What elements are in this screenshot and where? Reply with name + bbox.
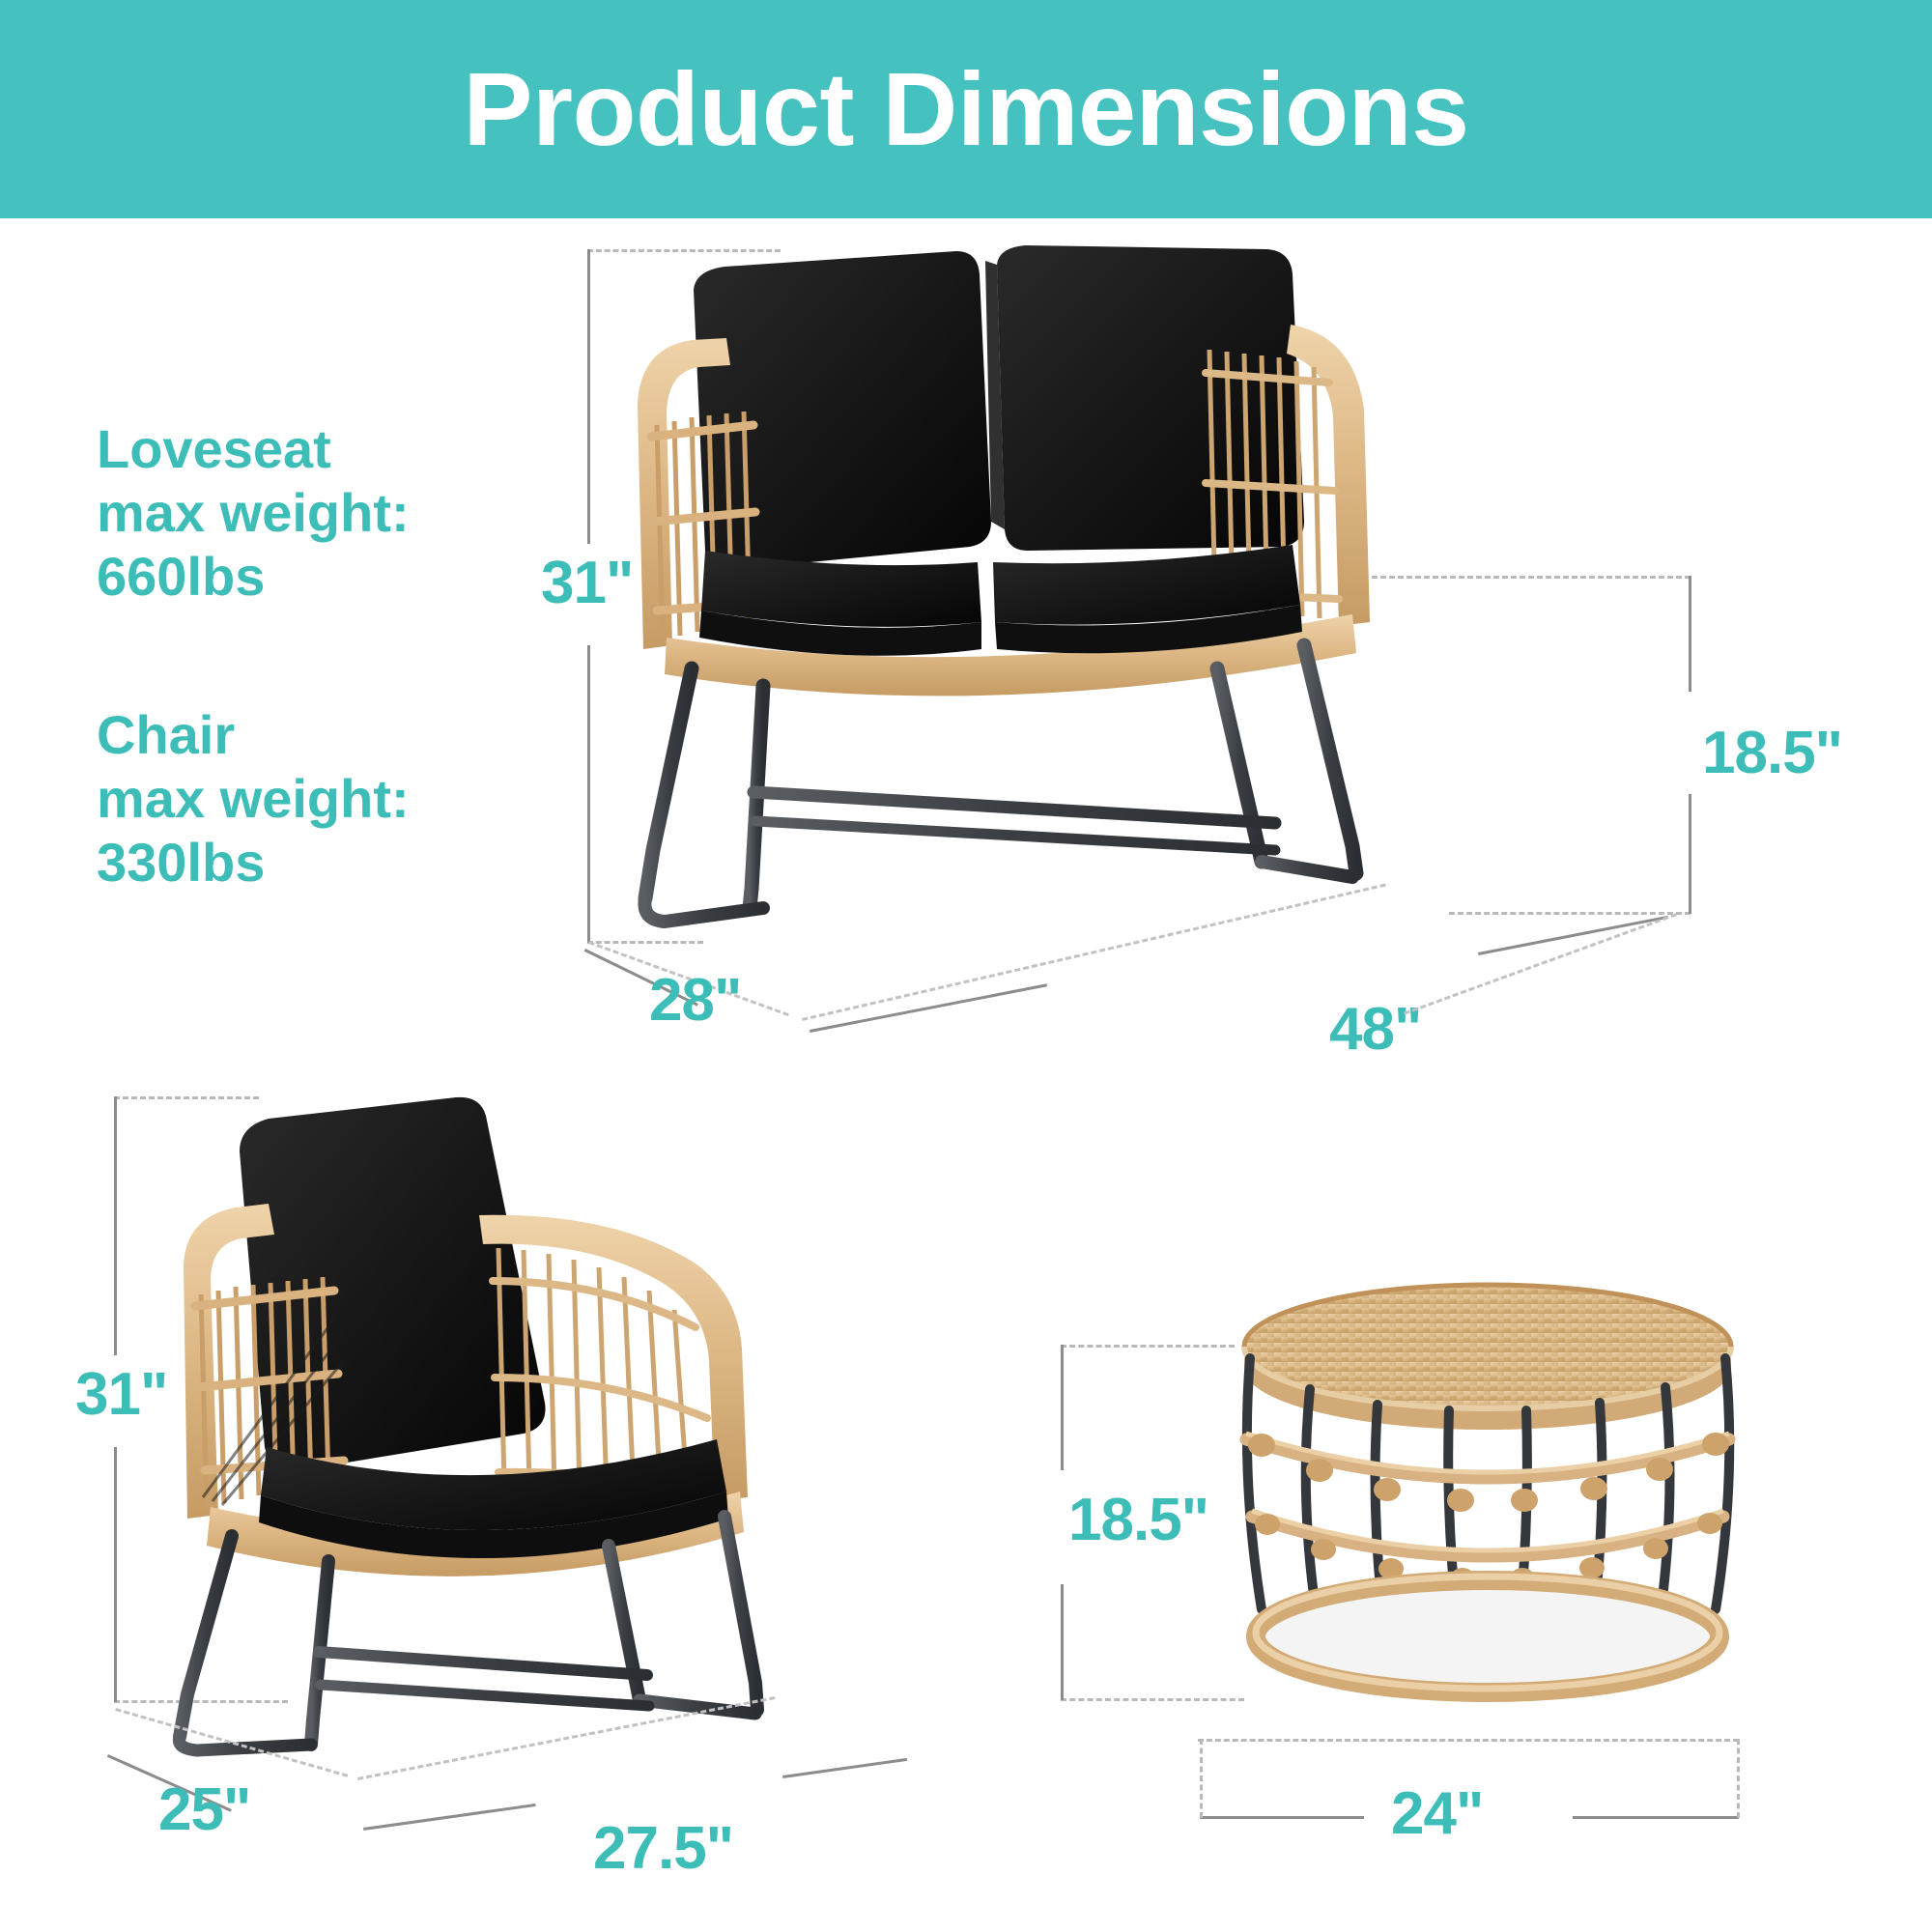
table-diameter-right-tick bbox=[1737, 1739, 1740, 1818]
table-diameter-line-right bbox=[1573, 1816, 1739, 1819]
table-top bbox=[1244, 1285, 1731, 1430]
loveseat-max-weight-note: Loveseat max weight: 660lbs bbox=[97, 417, 410, 609]
table-diameter-label: 24" bbox=[1391, 1779, 1483, 1848]
loveseat-seat-height-bottom-leader bbox=[1449, 912, 1690, 915]
chair-width-label: 27.5" bbox=[593, 1814, 733, 1883]
table-base-ring bbox=[1256, 1577, 1719, 1692]
loveseat-footprint-right-edge bbox=[1404, 913, 1677, 1014]
chair-image bbox=[155, 1092, 773, 1748]
loveseat-seat-cushions bbox=[699, 545, 1302, 656]
loveseat-height-line-upper bbox=[587, 249, 590, 544]
loveseat-depth-label: 28" bbox=[649, 966, 741, 1035]
header-banner: Product Dimensions bbox=[0, 0, 1932, 218]
table-height-line-upper bbox=[1061, 1345, 1064, 1470]
infographic-page: Product Dimensions Loveseat max weight: … bbox=[0, 0, 1932, 1932]
loveseat-seat-height-top-leader bbox=[1372, 576, 1690, 579]
loveseat-width-label: 48" bbox=[1329, 995, 1421, 1064]
table-image bbox=[1227, 1275, 1748, 1719]
page-title: Product Dimensions bbox=[463, 57, 1468, 161]
table-height-bottom-leader bbox=[1061, 1698, 1244, 1701]
chair-height-line-lower bbox=[114, 1447, 117, 1702]
chair-max-weight-note: Chair max weight: 330lbs bbox=[97, 703, 410, 895]
table-illustration bbox=[1227, 1275, 1748, 1719]
loveseat-seat-height-line-lower bbox=[1689, 794, 1691, 914]
chair-illustration bbox=[155, 1092, 773, 1748]
chair-height-line-upper bbox=[114, 1096, 117, 1355]
chair-width-line-left bbox=[363, 1804, 536, 1831]
loveseat-seat-height-line-upper bbox=[1689, 576, 1691, 692]
loveseat-height-label: 31" bbox=[541, 549, 633, 617]
table-diameter-left-tick bbox=[1200, 1739, 1203, 1818]
loveseat-height-line-lower bbox=[587, 645, 590, 943]
chair-depth-label: 25" bbox=[158, 1776, 250, 1844]
loveseat-image bbox=[638, 232, 1372, 1024]
table-diameter-dash bbox=[1198, 1739, 1739, 1742]
loveseat-seat-height-label: 18.5" bbox=[1702, 719, 1842, 787]
chair-width-line-right bbox=[782, 1758, 907, 1778]
table-diameter-line-left bbox=[1200, 1816, 1364, 1819]
table-height-top-leader bbox=[1061, 1345, 1235, 1348]
table-height-line-lower bbox=[1061, 1584, 1064, 1700]
table-height-label: 18.5" bbox=[1068, 1486, 1208, 1554]
loveseat-illustration bbox=[638, 232, 1372, 1024]
